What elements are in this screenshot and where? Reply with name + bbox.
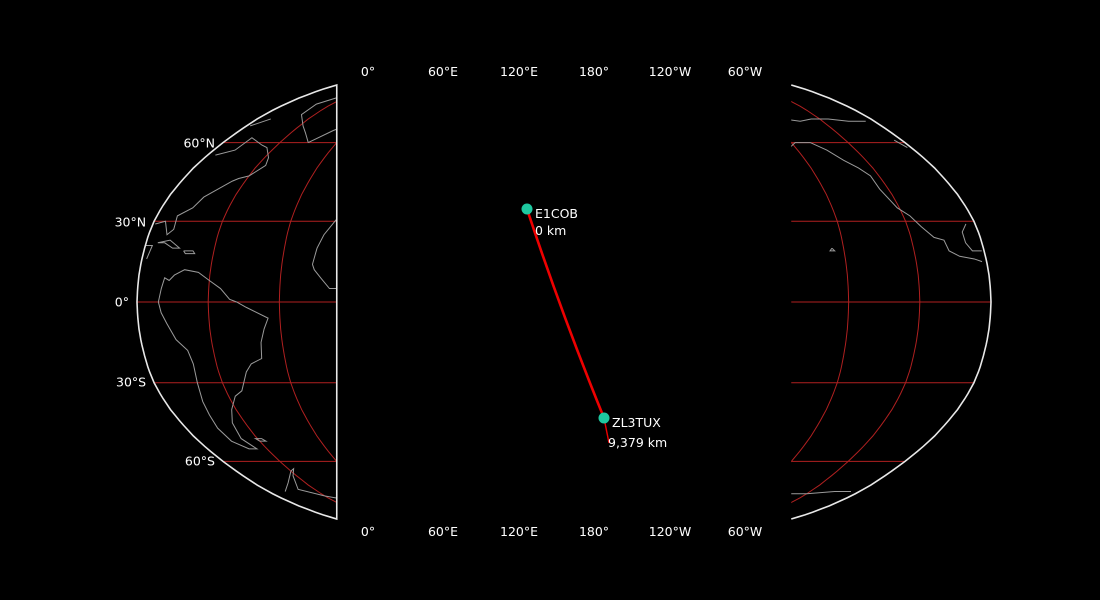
lon-tick-top-2: 120°E	[500, 64, 538, 79]
station-distance-label: 0 km	[535, 223, 566, 238]
map-figure-page: Robinson Projection PM95 to RE66HO (156°…	[0, 0, 1100, 600]
lat-tick-3: 30°S	[116, 375, 146, 390]
lon-tick-top-3: 180°	[579, 64, 609, 79]
lon-tick-top-5: 60°W	[728, 64, 763, 79]
lon-tick-top-1: 60°E	[428, 64, 458, 79]
lon-tick-bottom-4: 120°W	[649, 524, 691, 539]
station-callsign-label: E1COB	[535, 206, 578, 221]
lat-tick-0: 60°N	[183, 136, 215, 151]
robinson-map-canvas	[0, 0, 1100, 600]
lon-tick-bottom-0: 0°	[361, 524, 375, 539]
figure-background	[0, 0, 1100, 600]
station-marker-dot[interactable]	[599, 413, 610, 424]
station-marker-dot[interactable]	[522, 204, 533, 215]
station-distance-label: 9,379 km	[608, 435, 667, 450]
lon-tick-bottom-5: 60°W	[728, 524, 763, 539]
lon-tick-bottom-2: 120°E	[500, 524, 538, 539]
lat-tick-2: 0°	[115, 295, 129, 310]
lat-tick-4: 60°S	[185, 454, 215, 469]
station-callsign-label: ZL3TUX	[612, 415, 661, 430]
lon-tick-top-4: 120°W	[649, 64, 691, 79]
lon-tick-bottom-1: 60°E	[428, 524, 458, 539]
lat-tick-1: 30°N	[115, 215, 147, 230]
lon-tick-top-0: 0°	[361, 64, 375, 79]
lon-tick-bottom-3: 180°	[579, 524, 609, 539]
